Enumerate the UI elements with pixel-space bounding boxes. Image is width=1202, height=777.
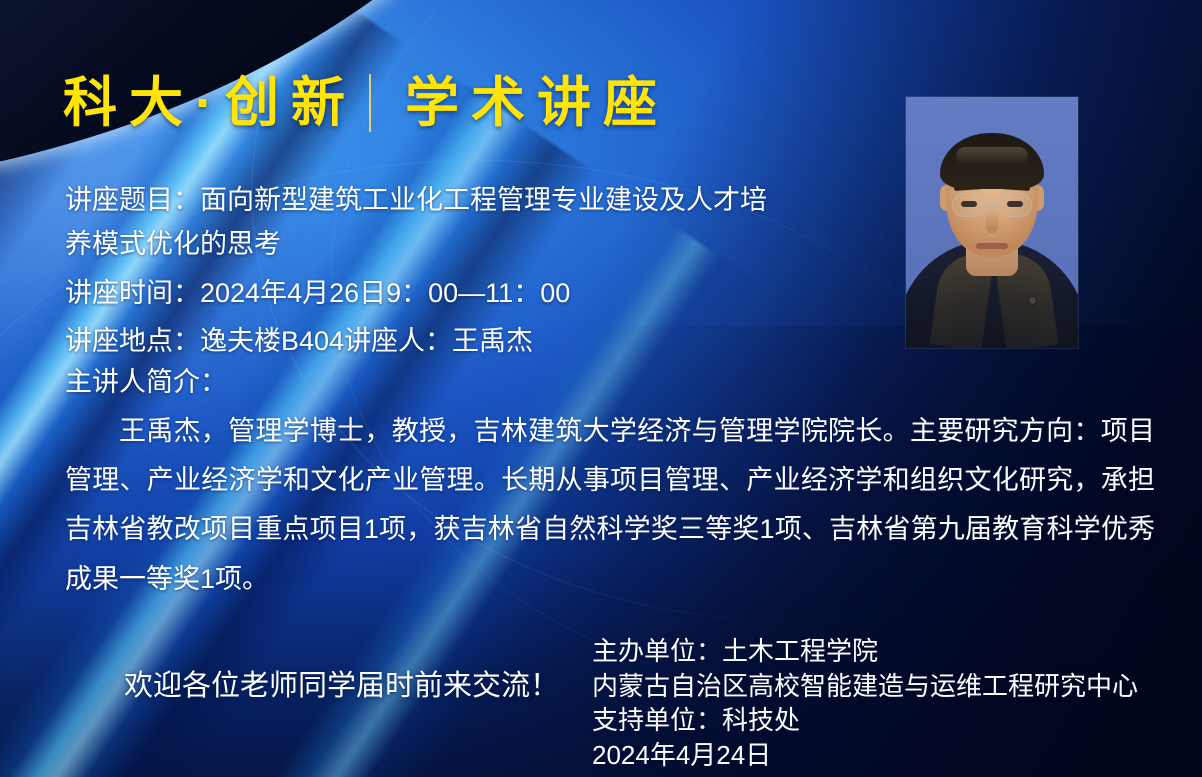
poster-content: 科大·创新 学术讲座	[0, 0, 1202, 777]
lecture-topic-line-2: 养模式优化的思考	[65, 225, 855, 263]
portrait-mouth	[976, 243, 1008, 249]
portrait-jacket-button	[1029, 297, 1036, 304]
lecture-speaker-line: 讲座人：王禹杰	[344, 322, 533, 360]
title-sub-text: 学术讲座	[405, 76, 669, 130]
organizer-center-line: 内蒙古自治区高校智能建造与运维工程研究中心	[592, 669, 1138, 704]
title-separator-line	[369, 74, 371, 132]
speaker-bio-block: 主讲人简介： 王禹杰，管理学博士，教授，吉林建筑大学经济与管理学院院长。主要研究…	[65, 358, 1155, 604]
lecture-location-row: 讲座地点：逸夫楼B404 讲座人：王禹杰	[65, 322, 855, 360]
organizer-date-line: 2024年4月24日	[592, 738, 1138, 773]
poster-title: 科大·创新 学术讲座	[63, 74, 669, 132]
speaker-portrait-photo	[906, 97, 1078, 348]
lecture-time-line: 讲座时间：2024年4月26日9：00—11：00	[65, 274, 855, 312]
welcome-message: 欢迎各位老师同学届时前来交流！	[124, 662, 559, 704]
portrait-glasses-bridge	[986, 203, 998, 205]
organizer-host-line: 主办单位：土木工程学院	[592, 634, 1138, 669]
lecture-poster: 科大·创新 学术讲座	[0, 0, 1202, 777]
organizer-block: 主办单位：土木工程学院 内蒙古自治区高校智能建造与运维工程研究中心 支持单位：科…	[592, 634, 1138, 772]
portrait-figure	[906, 97, 1078, 348]
lecture-info-block: 讲座题目：面向新型建筑工业化工程管理专业建设及人才培 养模式优化的思考 讲座时间…	[65, 181, 855, 366]
lecture-venue-line: 讲座地点：逸夫楼B404	[65, 322, 344, 360]
portrait-nose	[986, 211, 998, 233]
lecture-topic-line-1: 讲座题目：面向新型建筑工业化工程管理专业建设及人才培	[65, 181, 855, 219]
organizer-support-line: 支持单位：科技处	[592, 703, 1138, 738]
portrait-glasses-right-lens	[998, 193, 1032, 217]
title-main-text: 科大·创新	[63, 76, 357, 130]
portrait-glasses-left-lens	[952, 193, 986, 217]
portrait-hair	[940, 133, 1044, 189]
speaker-bio-heading: 主讲人简介：	[65, 358, 1155, 407]
speaker-bio-body: 王禹杰，管理学博士，教授，吉林建筑大学经济与管理学院院长。主要研究方向：项目管理…	[65, 407, 1155, 604]
